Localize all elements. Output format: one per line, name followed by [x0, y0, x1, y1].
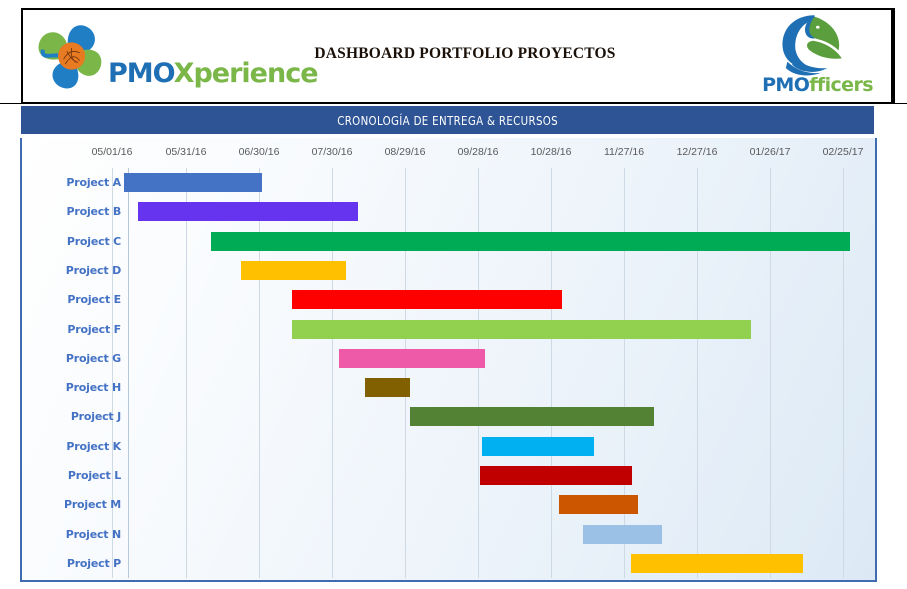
gantt-row[interactable]: Project F — [21, 314, 877, 343]
pmoxperience-wordmark: PMOXperience — [108, 58, 318, 89]
chart-border-bottom — [21, 580, 877, 582]
gantt-row-label: Project G — [21, 344, 121, 373]
chart-border-right — [875, 138, 877, 582]
gantt-bar[interactable] — [410, 407, 654, 426]
gantt-bar[interactable] — [583, 525, 662, 544]
gantt-bar[interactable] — [138, 202, 358, 221]
gantt-row-label: Project C — [21, 227, 121, 256]
gantt-row[interactable]: Project H — [21, 373, 877, 402]
gantt-row[interactable]: Project D — [21, 256, 877, 285]
gantt-row[interactable]: Project E — [21, 285, 877, 314]
gantt-row[interactable]: Project G — [21, 344, 877, 373]
gantt-row-label: Project J — [21, 402, 121, 431]
x-axis-tick-label: 07/30/16 — [312, 146, 353, 158]
gantt-bar[interactable] — [559, 495, 638, 514]
gantt-row[interactable]: Project K — [21, 432, 877, 461]
pmofficers-wordmark-secondary: fficers — [809, 74, 873, 96]
gantt-row-label: Project N — [21, 519, 121, 548]
gantt-bar[interactable] — [211, 232, 850, 251]
pmofficers-wordmark: PMOfficers — [745, 74, 890, 96]
gantt-bar[interactable] — [365, 378, 410, 397]
gantt-plot-area: Project AProject BProject CProject DProj… — [21, 168, 877, 578]
gantt-row[interactable]: Project P — [21, 549, 877, 578]
gantt-bar[interactable] — [480, 466, 632, 485]
chart-border-left — [20, 138, 22, 582]
eagle-bird-icon — [765, 12, 861, 76]
x-axis-tick-label: 12/27/16 — [677, 146, 718, 158]
gantt-bar[interactable] — [339, 349, 485, 368]
pmoxperience-wordmark-secondary: Xperience — [174, 58, 318, 89]
gantt-row-label: Project K — [21, 432, 121, 461]
gantt-row[interactable]: Project M — [21, 490, 877, 519]
gantt-row-label: Project B — [21, 197, 121, 226]
gantt-row-label: Project F — [21, 314, 121, 343]
pmoxperience-wordmark-primary: PMO — [108, 58, 174, 89]
gantt-bar[interactable] — [292, 290, 562, 309]
gantt-row[interactable]: Project L — [21, 461, 877, 490]
pmofficers-wordmark-primary: PMO — [762, 74, 809, 96]
x-axis-tick-label: 09/28/16 — [458, 146, 499, 158]
gantt-row[interactable]: Project C — [21, 227, 877, 256]
gantt-row-label: Project M — [21, 490, 121, 519]
header-rule-right — [893, 103, 907, 104]
x-axis-tick-label: 05/31/16 — [166, 146, 207, 158]
gantt-row-label: Project L — [21, 461, 121, 490]
x-axis-tick-label: 10/28/16 — [531, 146, 572, 158]
x-axis-tick-label: 11/27/16 — [604, 146, 644, 158]
pinwheel-swirl-icon — [30, 16, 110, 96]
x-axis-tick-label: 06/30/16 — [239, 146, 280, 158]
x-axis-tick-label: 01/26/17 — [750, 146, 791, 158]
x-axis-tick-label: 02/25/17 — [823, 146, 864, 158]
pmoxperience-logo: PMOXperience — [30, 14, 295, 98]
page-title: DASHBOARD PORTFOLIO PROYECTOS — [300, 45, 630, 63]
dashboard-root: PMOXperience DASHBOARD PORTFOLIO PROYECT… — [0, 0, 907, 589]
gantt-row-label: Project P — [21, 549, 121, 578]
gantt-row[interactable]: Project J — [21, 402, 877, 431]
gantt-row[interactable]: Project N — [21, 519, 877, 548]
section-title-bar: CRONOLOGÍA DE ENTREGA & RECURSOS — [21, 106, 874, 134]
x-axis-tick-label: 05/01/16 — [92, 146, 133, 158]
gantt-row-label: Project E — [21, 285, 121, 314]
gantt-bar[interactable] — [241, 261, 346, 280]
gantt-row-label: Project A — [21, 168, 121, 197]
x-axis-tick-label: 08/29/16 — [385, 146, 426, 158]
gantt-chart: 05/01/1605/31/1606/30/1607/30/1608/29/16… — [21, 138, 877, 581]
gantt-row-label: Project D — [21, 256, 121, 285]
gantt-bar[interactable] — [292, 320, 751, 339]
x-axis-tick-labels: 05/01/1605/31/1606/30/1607/30/1608/29/16… — [21, 146, 877, 166]
gantt-bar[interactable] — [482, 437, 594, 456]
gantt-bar[interactable] — [124, 173, 262, 192]
header-frame-right — [893, 8, 895, 104]
gantt-row[interactable]: Project B — [21, 197, 877, 226]
header-rule-left — [0, 103, 21, 104]
pmofficers-logo: PMOfficers — [745, 12, 890, 100]
gantt-row-label: Project H — [21, 373, 121, 402]
section-title-text: CRONOLOGÍA DE ENTREGA & RECURSOS — [337, 113, 558, 128]
gantt-bar[interactable] — [631, 554, 803, 573]
gantt-row[interactable]: Project A — [21, 168, 877, 197]
